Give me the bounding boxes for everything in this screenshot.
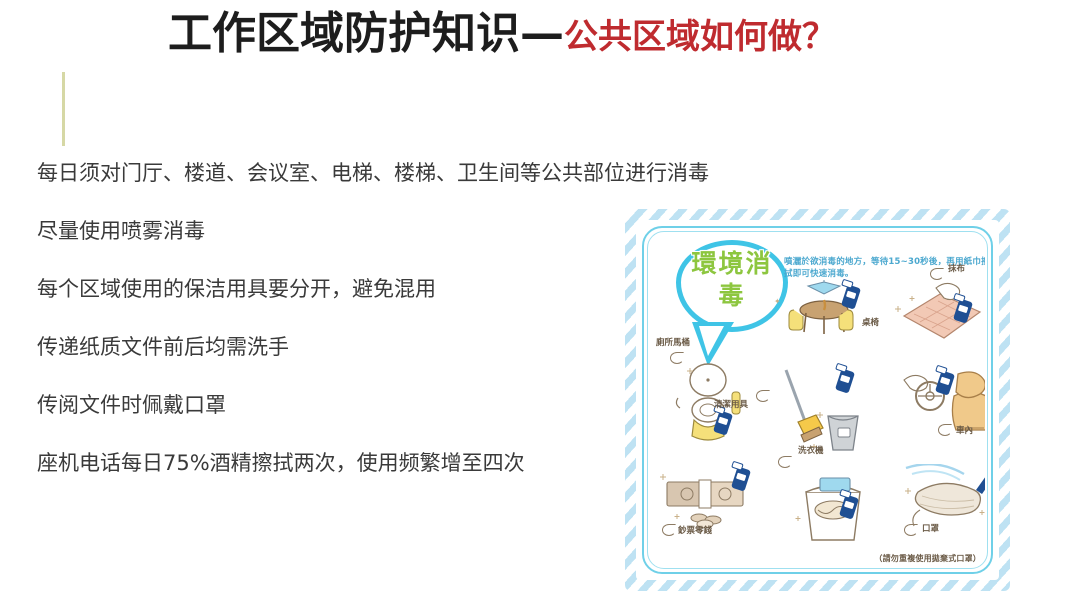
pointer-swirl-icon (938, 424, 952, 436)
pointer-swirl-icon (756, 390, 770, 402)
grid-item-face-mask: 口罩 (894, 462, 985, 542)
illustration-panel: 環境消毒 噴灑於欲消毒的地方，等待15~30秒後，再用紙巾擦拭即可快速消毒。 (625, 209, 1010, 591)
slide-root: 工作区域防护知识 — 公共区域如何做？ 每日须对门厅、楼道、会议室、电梯、楼梯、… (0, 0, 1080, 603)
grid-item-car-interior: 車內 (890, 364, 985, 444)
item-caption: 清潔用具 (714, 400, 748, 411)
grid-item-banknotes-and-coins: 鈔票零錢 (652, 458, 768, 538)
footnote-text: （請勿重複使用拋棄式口罩） (874, 553, 981, 564)
item-caption: 鈔票零錢 (678, 526, 712, 537)
body-line: 每个区域使用的保洁用具要分开，避免混用 (37, 276, 617, 303)
item-caption: 桌椅 (862, 318, 879, 329)
grid-item-toilet: 廁所馬桶 (652, 356, 768, 436)
body-line: 传递纸质文件前后均需洗手 (37, 334, 617, 361)
accent-bar (62, 72, 65, 146)
body-line: 传阅文件时佩戴口罩 (37, 392, 617, 419)
grid-item-table-and-chairs: ✦ 桌椅 (766, 278, 882, 358)
pointer-swirl-icon (904, 524, 918, 536)
item-grid: ✦ 桌椅 (654, 338, 985, 566)
page-title-dash: — (520, 8, 564, 60)
body-line: 座机电话每日75%酒精擦拭两次，使用频繁增至四次 (37, 450, 617, 477)
page-title-main: 工作区域防护知识 (168, 8, 520, 60)
body-line: 尽量使用喷雾消毒 (37, 218, 617, 245)
item-caption: 洗衣機 (798, 446, 824, 457)
speech-bubble-label: 環境消毒 (686, 248, 778, 312)
grid-item-mop-and-bucket: 清潔用具 (764, 364, 880, 444)
grid-item-washing-machine: 洗衣機 (776, 460, 892, 540)
pointer-swirl-icon (670, 352, 684, 364)
pointer-swirl-icon (930, 268, 944, 280)
illustration-inner: 環境消毒 噴灑於欲消毒的地方，等待15~30秒後，再用紙巾擦拭即可快速消毒。 (636, 220, 999, 580)
item-caption: 車內 (956, 426, 973, 437)
item-caption: 廁所馬桶 (656, 338, 690, 349)
illustration-canvas: 環境消毒 噴灑於欲消毒的地方，等待15~30秒後，再用紙巾擦拭即可快速消毒。 (650, 234, 985, 566)
grid-item-cleaning-cloth: 抹布 (882, 270, 985, 350)
page-title-accent: 公共区域如何做？ (564, 11, 836, 63)
body-text-block: 每日须对门厅、楼道、会议室、电梯、楼梯、卫生间等公共部位进行消毒 尽量使用喷雾消… (37, 160, 617, 477)
item-caption: 口罩 (922, 524, 939, 535)
washing-machine-icon (788, 462, 880, 546)
page-title: 工作区域防护知识 — 公共区域如何做？ (168, 8, 836, 63)
pointer-swirl-icon (778, 456, 792, 468)
body-line: 每日须对门厅、楼道、会议室、电梯、楼梯、卫生间等公共部位进行消毒 (37, 160, 617, 187)
item-caption: 抹布 (948, 264, 965, 275)
pointer-swirl-icon (662, 524, 676, 536)
cleaning-cloth-icon (890, 272, 985, 348)
